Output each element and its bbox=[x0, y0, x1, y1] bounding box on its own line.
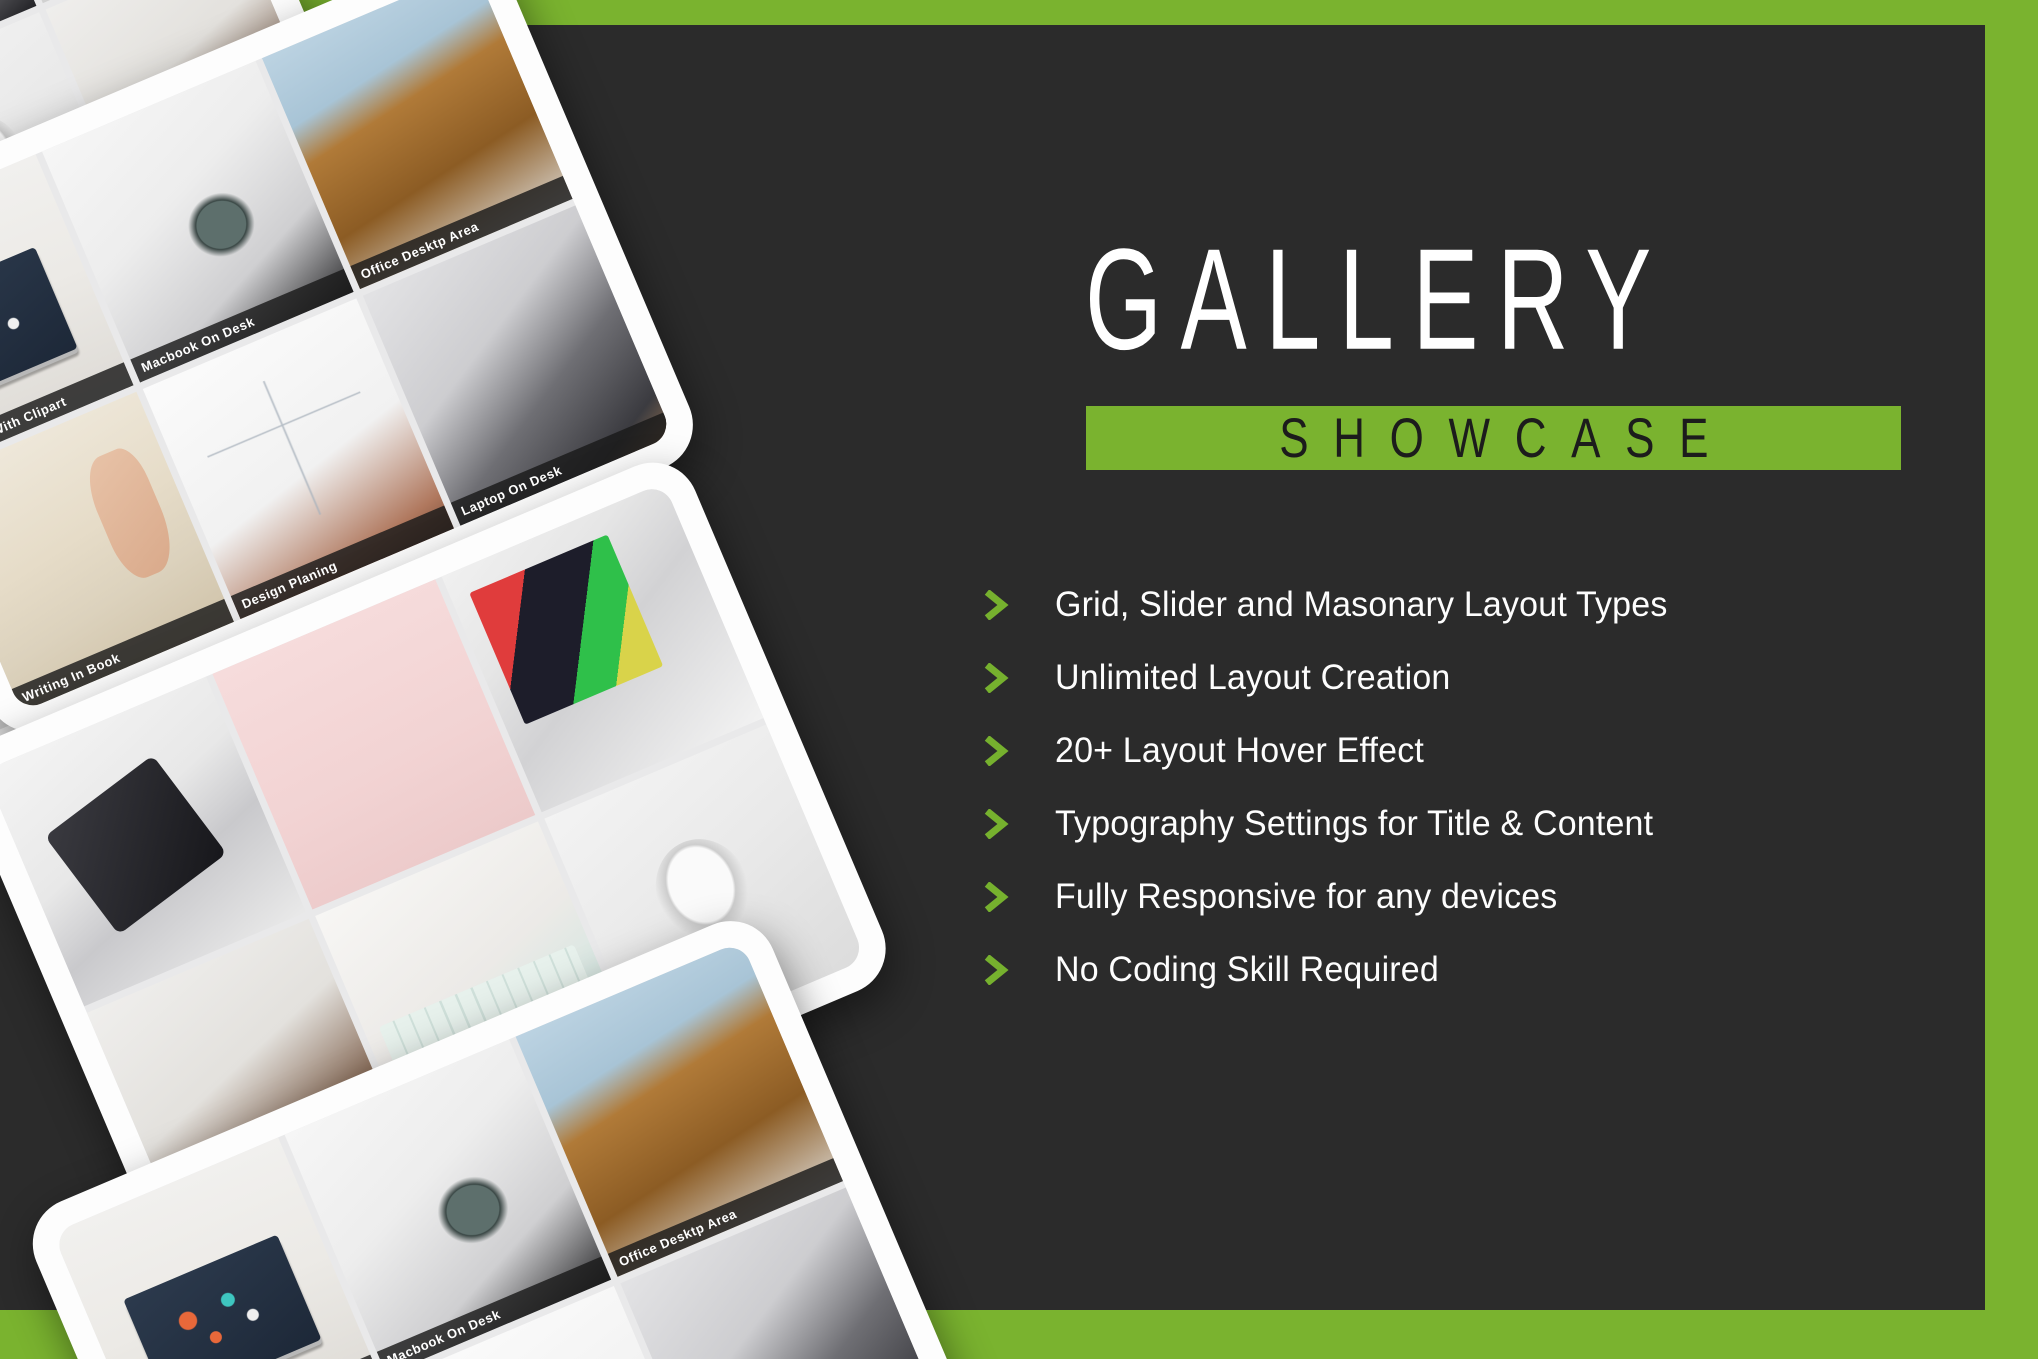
device-mockup-stack: Homepage With ClipartMacbook On DeskOffi… bbox=[0, 0, 1060, 1359]
feature-list: Grid, Slider and Masonary Layout TypesUn… bbox=[1055, 568, 1955, 1006]
page-title: GALLERY bbox=[1085, 228, 1774, 372]
feature-item: No Coding Skill Required bbox=[1055, 933, 1955, 1006]
chevron-right-icon bbox=[983, 882, 1009, 912]
feature-label: Typography Settings for Title & Content bbox=[1055, 804, 1653, 844]
feature-label: 20+ Layout Hover Effect bbox=[1055, 731, 1424, 771]
chevron-right-icon bbox=[983, 955, 1009, 985]
feature-item: Typography Settings for Title & Content bbox=[1055, 787, 1955, 860]
chevron-right-icon bbox=[983, 736, 1009, 766]
feature-item: 20+ Layout Hover Effect bbox=[1055, 714, 1955, 787]
page-subtitle: SHOWCASE bbox=[1254, 406, 1732, 471]
subtitle-bar: SHOWCASE bbox=[1086, 406, 1901, 470]
gallery-showcase-banner: Homepage With ClipartMacbook On DeskOffi… bbox=[0, 0, 2038, 1359]
feature-item: Fully Responsive for any devices bbox=[1055, 860, 1955, 933]
feature-label: Unlimited Layout Creation bbox=[1055, 658, 1450, 698]
feature-label: Grid, Slider and Masonary Layout Types bbox=[1055, 585, 1668, 625]
feature-item: Unlimited Layout Creation bbox=[1055, 641, 1955, 714]
chevron-right-icon bbox=[983, 590, 1009, 620]
chevron-right-icon bbox=[983, 809, 1009, 839]
feature-item: Grid, Slider and Masonary Layout Types bbox=[1055, 568, 1955, 641]
feature-label: Fully Responsive for any devices bbox=[1055, 877, 1557, 917]
feature-label: No Coding Skill Required bbox=[1055, 950, 1439, 990]
gallery-cell-caption: Homepage With Clipart bbox=[145, 1354, 380, 1359]
chevron-right-icon bbox=[983, 663, 1009, 693]
